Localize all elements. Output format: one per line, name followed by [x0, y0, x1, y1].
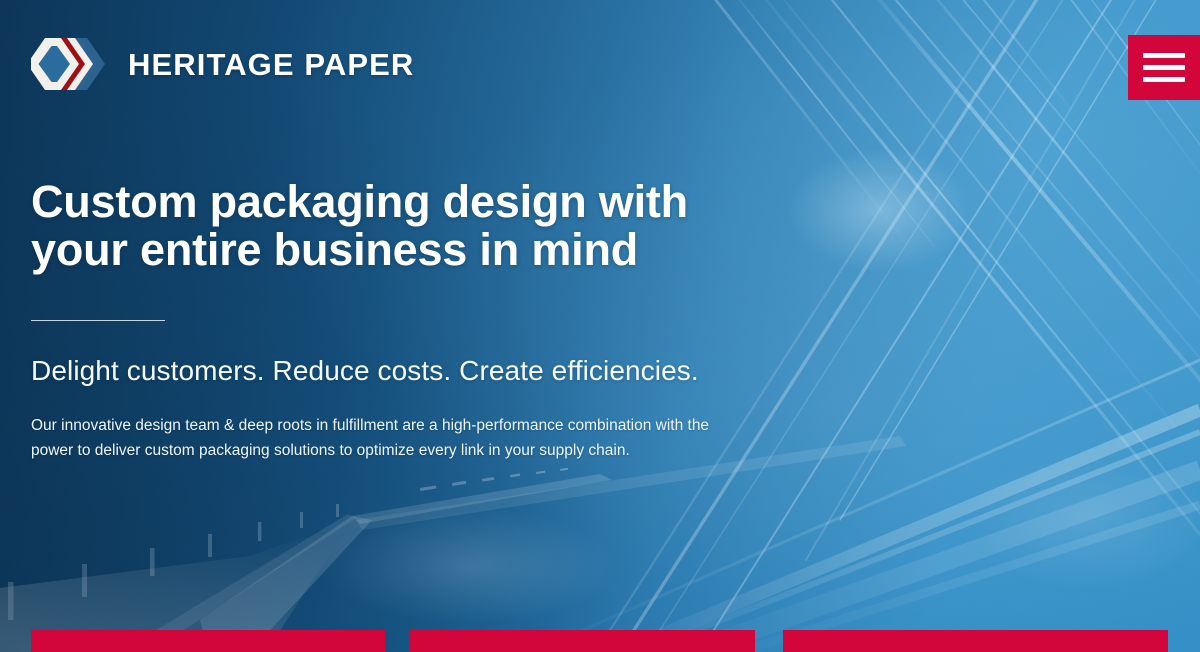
brand-logo-link[interactable]: HERITAGE PAPER	[31, 36, 414, 92]
menu-bar-2	[1143, 65, 1185, 70]
hero-section: HERITAGE PAPER Custom packaging design w…	[0, 0, 1200, 652]
feature-card-strip	[0, 630, 1200, 652]
hero-content: Custom packaging design with your entire…	[31, 178, 791, 464]
page-title: Custom packaging design with your entire…	[31, 178, 771, 274]
site-header: HERITAGE PAPER	[0, 0, 1200, 118]
feature-card-3-top[interactable]	[783, 630, 1168, 652]
hero-body-text: Our innovative design team & deep roots …	[31, 413, 747, 463]
hamburger-menu-icon[interactable]	[1128, 35, 1200, 100]
hero-subtitle: Delight customers. Reduce costs. Create …	[31, 353, 791, 388]
brand-name: HERITAGE PAPER	[128, 49, 414, 80]
menu-bar-3	[1143, 77, 1185, 82]
heritage-chevron-diamond-logo-icon	[31, 36, 113, 92]
feature-card-1-top[interactable]	[31, 630, 385, 652]
menu-bar-1	[1143, 53, 1185, 58]
feature-card-2-top[interactable]	[409, 630, 755, 652]
title-divider	[31, 320, 165, 321]
